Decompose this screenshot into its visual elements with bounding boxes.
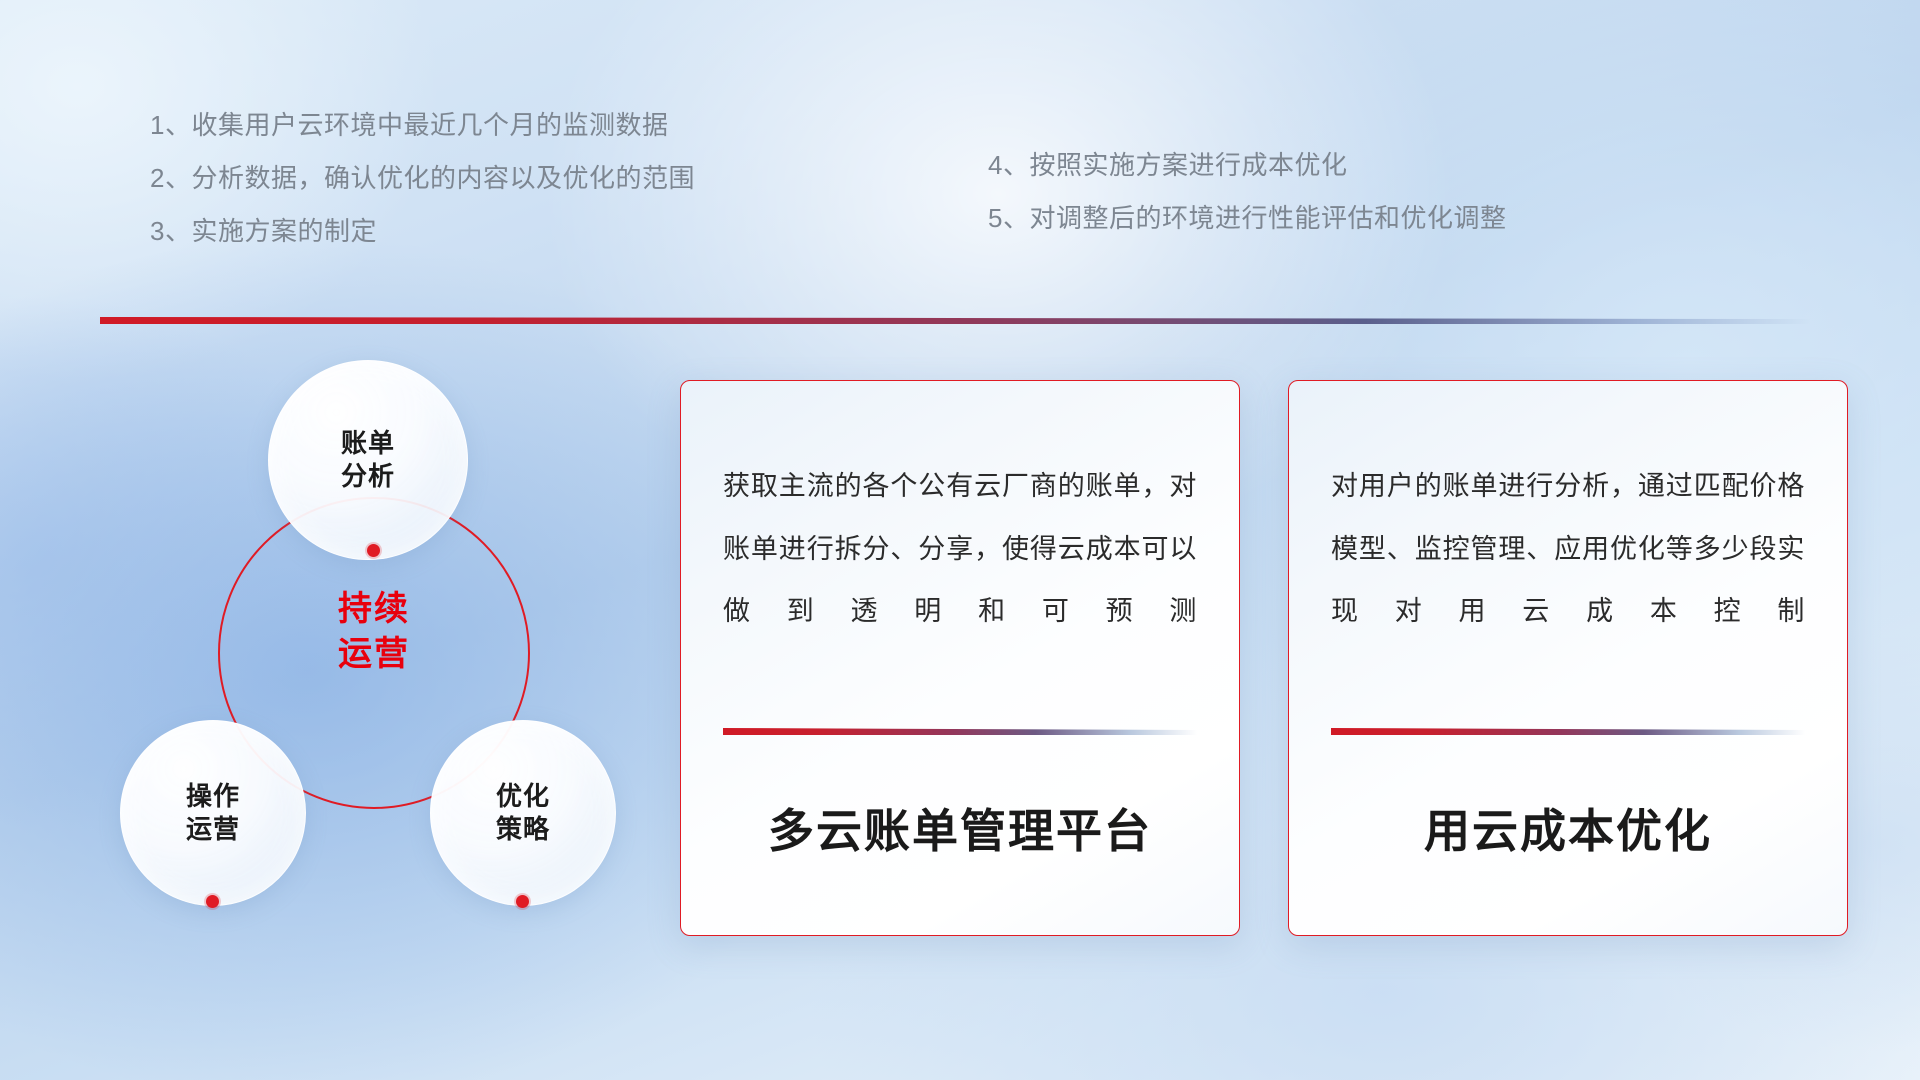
slide-canvas: 1、收集用户云环境中最近几个月的监测数据 2、分析数据，确认优化的内容以及优化的… xyxy=(0,0,1920,1080)
bubble-bill-analysis[interactable]: 账单 分析 xyxy=(268,360,468,560)
card-title: 多云账单管理平台 xyxy=(723,735,1197,935)
bubble-label-line1: 优化 xyxy=(496,780,550,813)
bubble-label-line1: 操作 xyxy=(186,780,240,813)
card-cloud-cost-optimization[interactable]: 对用户的账单进行分析，通过匹配价格模型、监控管理、应用优化等多少段实现对用云成本… xyxy=(1288,380,1848,936)
steps-list-right: 4、按照实施方案进行成本优化 5、对调整后的环境进行性能评估和优化调整 xyxy=(988,152,1506,231)
bubble-label-line1: 账单 xyxy=(341,427,395,460)
card-body-text: 获取主流的各个公有云厂商的账单，对账单进行拆分、分享，使得云成本可以做到透明和可… xyxy=(723,455,1197,643)
center-label-line1: 持续 xyxy=(218,587,530,632)
card-multicloud-billing-platform[interactable]: 获取主流的各个公有云厂商的账单，对账单进行拆分、分享，使得云成本可以做到透明和可… xyxy=(680,380,1240,936)
list-item: 4、按照实施方案进行成本优化 xyxy=(988,152,1506,178)
card-divider-rule xyxy=(1331,728,1805,735)
connector-dot-icon xyxy=(367,544,380,557)
card-title: 用云成本优化 xyxy=(1331,735,1805,935)
section-divider-rule xyxy=(100,317,1810,324)
steps-list-left: 1、收集用户云环境中最近几个月的监测数据 2、分析数据，确认优化的内容以及优化的… xyxy=(150,112,695,244)
list-item: 5、对调整后的环境进行性能评估和优化调整 xyxy=(988,205,1506,231)
diagram-center-label: 持续 运营 xyxy=(218,587,530,677)
bubble-operations[interactable]: 操作 运营 xyxy=(120,720,306,906)
card-divider-rule xyxy=(723,728,1197,735)
connector-dot-icon xyxy=(516,895,529,908)
continuous-operation-diagram: 持续 运营 账单 分析 操作 运营 优化 策略 xyxy=(100,352,640,942)
list-item: 2、分析数据，确认优化的内容以及优化的范围 xyxy=(150,165,695,191)
bubble-label-line2: 策略 xyxy=(496,813,550,846)
connector-dot-icon xyxy=(206,895,219,908)
bubble-label-line2: 运营 xyxy=(186,813,240,846)
list-item: 3、实施方案的制定 xyxy=(150,218,695,244)
list-item: 1、收集用户云环境中最近几个月的监测数据 xyxy=(150,112,695,138)
center-label-line2: 运营 xyxy=(218,632,530,677)
card-body-text: 对用户的账单进行分析，通过匹配价格模型、监控管理、应用优化等多少段实现对用云成本… xyxy=(1331,455,1805,643)
bubble-optimization-strategy[interactable]: 优化 策略 xyxy=(430,720,616,906)
bubble-label-line2: 分析 xyxy=(341,460,395,493)
